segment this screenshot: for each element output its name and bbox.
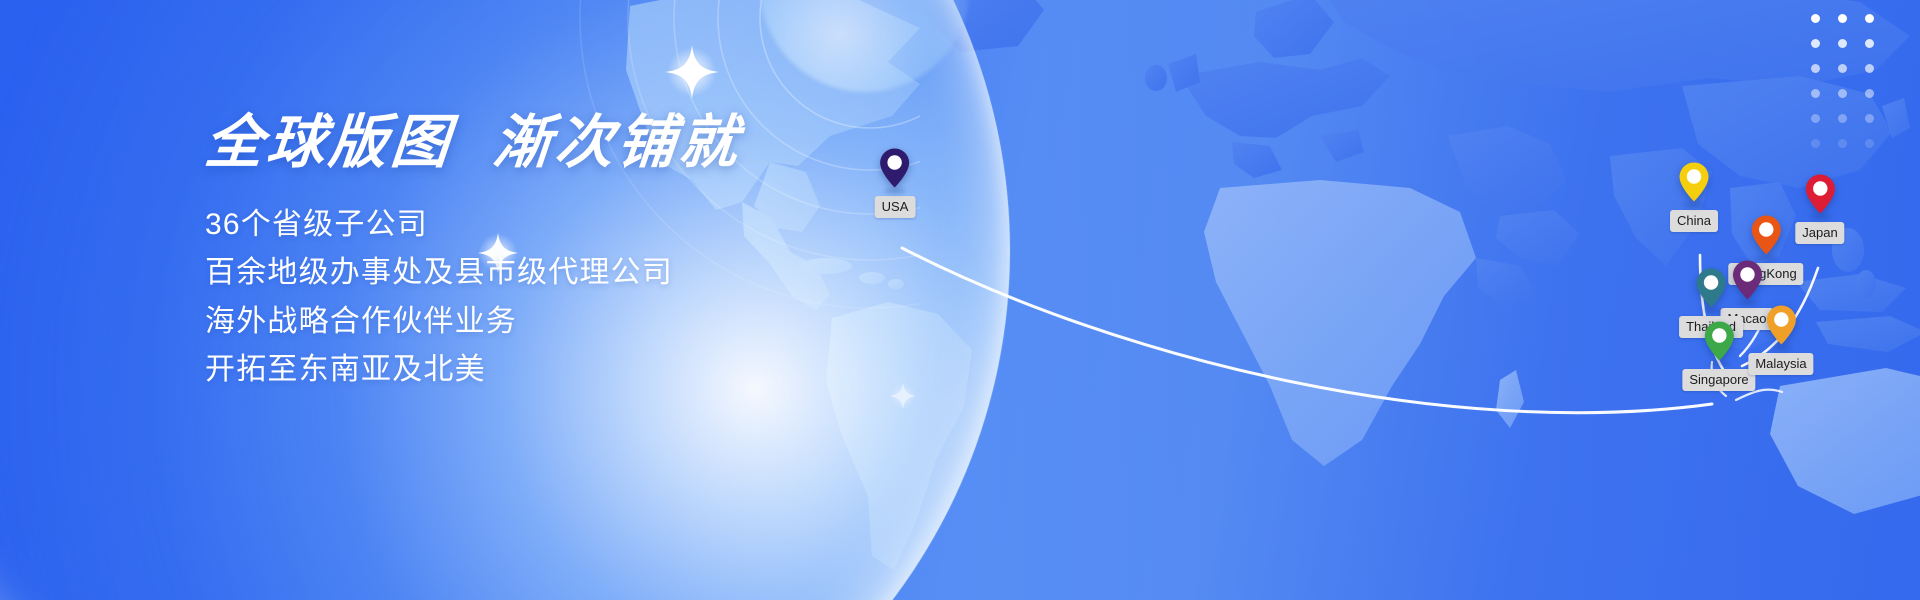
dot-grid-dot bbox=[1838, 64, 1847, 73]
list-item: 开拓至东南亚及北美 bbox=[205, 346, 905, 395]
map-marker-label: Singapore bbox=[1682, 369, 1755, 391]
sparkle-large-top-icon bbox=[664, 44, 720, 100]
map-pin-icon bbox=[1678, 161, 1710, 203]
dot-grid-dot bbox=[1838, 139, 1847, 148]
dot-grid-dot bbox=[1865, 89, 1874, 98]
dot-grid-dot bbox=[1865, 14, 1874, 23]
dot-grid-dot bbox=[1838, 39, 1847, 48]
map-marker-malaysia[interactable]: Malaysia bbox=[1748, 304, 1813, 375]
dot-grid-dot bbox=[1865, 139, 1874, 148]
dot-grid-decoration bbox=[1811, 14, 1874, 164]
dot-grid-dot bbox=[1811, 39, 1820, 48]
dot-grid-dot bbox=[1865, 39, 1874, 48]
map-pin-shadow bbox=[884, 188, 906, 194]
list-item: 百余地级办事处及县市级代理公司 bbox=[205, 249, 905, 298]
dot-grid-dot bbox=[1865, 64, 1874, 73]
map-pin-shadow bbox=[1809, 214, 1831, 220]
map-pin-icon bbox=[1750, 214, 1782, 256]
map-pin-shadow bbox=[1708, 361, 1730, 367]
dot-grid-row bbox=[1811, 89, 1874, 98]
map-pin-icon bbox=[879, 147, 911, 189]
dot-grid-dot bbox=[1811, 89, 1820, 98]
map-pin-icon bbox=[1703, 320, 1735, 362]
list-item: 36个省级子公司 bbox=[205, 201, 905, 250]
dot-grid-dot bbox=[1811, 139, 1820, 148]
map-marker-label: Malaysia bbox=[1748, 353, 1813, 375]
dot-grid-dot bbox=[1838, 89, 1847, 98]
page-title: 全球版图 渐次铺就 bbox=[202, 112, 907, 175]
dot-grid-row bbox=[1811, 39, 1874, 48]
dot-grid-dot bbox=[1838, 14, 1847, 23]
global-map-banner: 全球版图 渐次铺就 36个省级子公司 百余地级办事处及县市级代理公司 海外战略合… bbox=[0, 0, 1920, 600]
dot-grid-dot bbox=[1865, 114, 1874, 123]
map-marker-label: USA bbox=[875, 196, 916, 218]
map-pin-shadow bbox=[1683, 202, 1705, 208]
dot-grid-dot bbox=[1811, 114, 1820, 123]
copy-block: 全球版图 渐次铺就 36个省级子公司 百余地级办事处及县市级代理公司 海外战略合… bbox=[205, 112, 905, 395]
dot-grid-dot bbox=[1838, 114, 1847, 123]
dot-grid-dot bbox=[1811, 14, 1820, 23]
dot-grid-row bbox=[1811, 114, 1874, 123]
map-marker-label: China bbox=[1670, 210, 1718, 232]
map-pin-icon bbox=[1804, 173, 1836, 215]
dot-grid-row bbox=[1811, 64, 1874, 73]
map-pin-shadow bbox=[1700, 308, 1722, 314]
dot-grid-row bbox=[1811, 139, 1874, 148]
list-item: 海外战略合作伙伴业务 bbox=[205, 298, 905, 347]
map-pin-icon bbox=[1765, 304, 1797, 346]
dot-grid-dot bbox=[1811, 64, 1820, 73]
map-pin-shadow bbox=[1770, 345, 1792, 351]
dot-grid-row bbox=[1811, 14, 1874, 23]
map-marker-china[interactable]: China bbox=[1670, 161, 1718, 232]
map-pin-icon bbox=[1695, 267, 1727, 309]
map-marker-singapore[interactable]: Singapore bbox=[1682, 320, 1755, 391]
map-marker-usa[interactable]: USA bbox=[875, 147, 916, 218]
highlight-list: 36个省级子公司 百余地级办事处及县市级代理公司 海外战略合作伙伴业务 开拓至东… bbox=[205, 201, 905, 395]
